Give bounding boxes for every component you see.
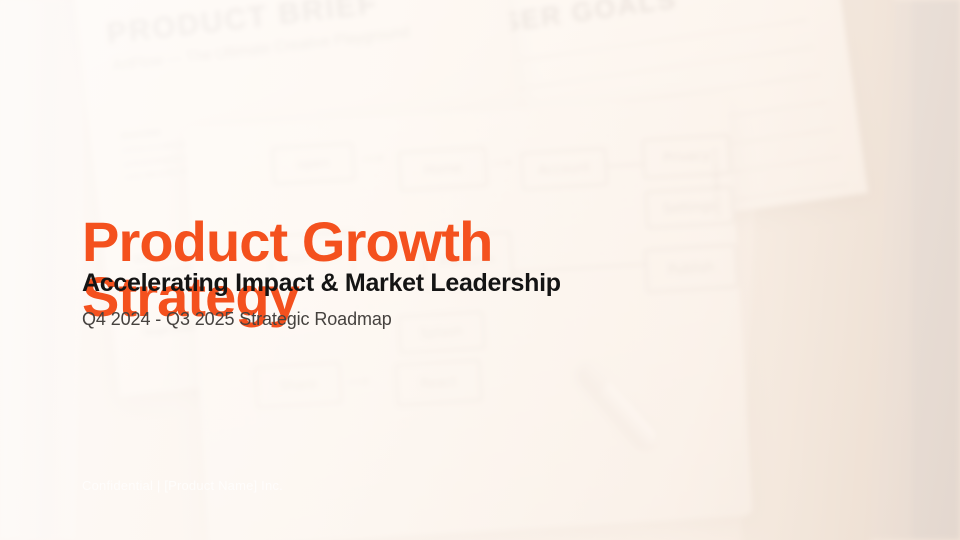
slide-content: Product Growth Strategy Accelerating Imp…: [0, 0, 960, 540]
slide-footer: Confidential | [Product Name] Inc.: [82, 478, 283, 493]
slide-subtitle: Accelerating Impact & Market Leadership: [82, 269, 742, 298]
title-slide: USER GOALS PRODUCT BRIEF ArtFlow — The U…: [0, 0, 960, 540]
slide-date-range: Q4 2024 - Q3 2025 Strategic Roadmap: [82, 309, 392, 330]
